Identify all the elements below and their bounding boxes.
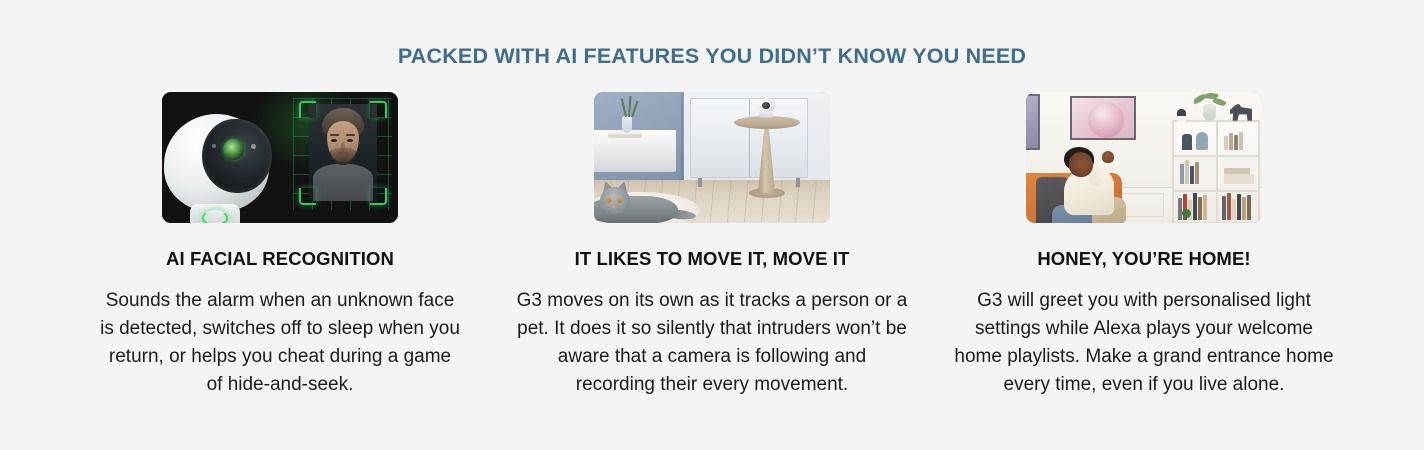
white-bookshelf — [1172, 120, 1260, 223]
feature-card: White AI security camera beside a man’s … — [64, 92, 496, 399]
feature-image-welcome-home: Woman sitting on an orange sofa raising … — [1026, 92, 1262, 223]
plant-vase — [1203, 104, 1216, 121]
feature-image-ai-facial-recognition: White AI security camera beside a man’s … — [162, 92, 398, 223]
person-head — [1069, 152, 1093, 177]
feature-card-title: AI FACIAL RECOGNITION — [166, 248, 394, 270]
feature-card-body: G3 moves on its own as it tracks a perso… — [516, 287, 908, 399]
feature-card-title: HONEY, YOU’RE HOME! — [1037, 248, 1250, 270]
person-hand — [1102, 151, 1114, 163]
camera-led-ring-icon — [202, 210, 228, 223]
feature-card-title: IT LIKES TO MOVE IT, MOVE IT — [575, 248, 850, 270]
feature-image-motion-tracking: Living room with a grey cat lying on a r… — [594, 92, 830, 223]
glass-vase — [622, 116, 632, 133]
camera-indicator-dot-icon — [251, 144, 256, 149]
wall-corner-edge — [681, 92, 683, 184]
welcome-home-illustration — [1026, 92, 1262, 223]
cat-nose — [612, 205, 616, 208]
cat-eye-left — [606, 198, 611, 203]
camera-base-icon — [759, 111, 773, 118]
cat-eye-right — [617, 198, 622, 203]
feature-card-body: G3 will greet you with personalised ligh… — [954, 287, 1334, 399]
feature-card: Living room with a grey cat lying on a r… — [496, 92, 928, 399]
cat-head — [600, 187, 630, 214]
section-heading: PACKED WITH AI FEATURES YOU DIDN’T KNOW … — [0, 44, 1424, 70]
cabinet-leg-right — [796, 178, 800, 187]
framed-art-left — [1026, 94, 1040, 150]
face-scan-hud — [293, 98, 392, 210]
framed-art-pink — [1070, 96, 1136, 140]
living-room-illustration — [594, 92, 830, 223]
feature-card-list: White AI security camera beside a man’s … — [0, 92, 1424, 399]
ai-features-section: PACKED WITH AI FEATURES YOU DIDN’T KNOW … — [0, 0, 1424, 450]
feature-card-body: Sounds the alarm when an unknown face is… — [100, 287, 460, 399]
feature-card: Woman sitting on an orange sofa raising … — [928, 92, 1360, 399]
face-detection-bracket-icon — [299, 101, 387, 205]
facial-recognition-illustration — [162, 92, 398, 223]
white-cabinet — [690, 98, 808, 178]
camera-sensor-dot-icon — [212, 144, 216, 148]
cabinet-leg-left — [698, 178, 702, 187]
camera-lens-icon — [223, 139, 244, 160]
camera-icon — [1177, 109, 1186, 122]
camera-lens-icon — [762, 102, 770, 109]
